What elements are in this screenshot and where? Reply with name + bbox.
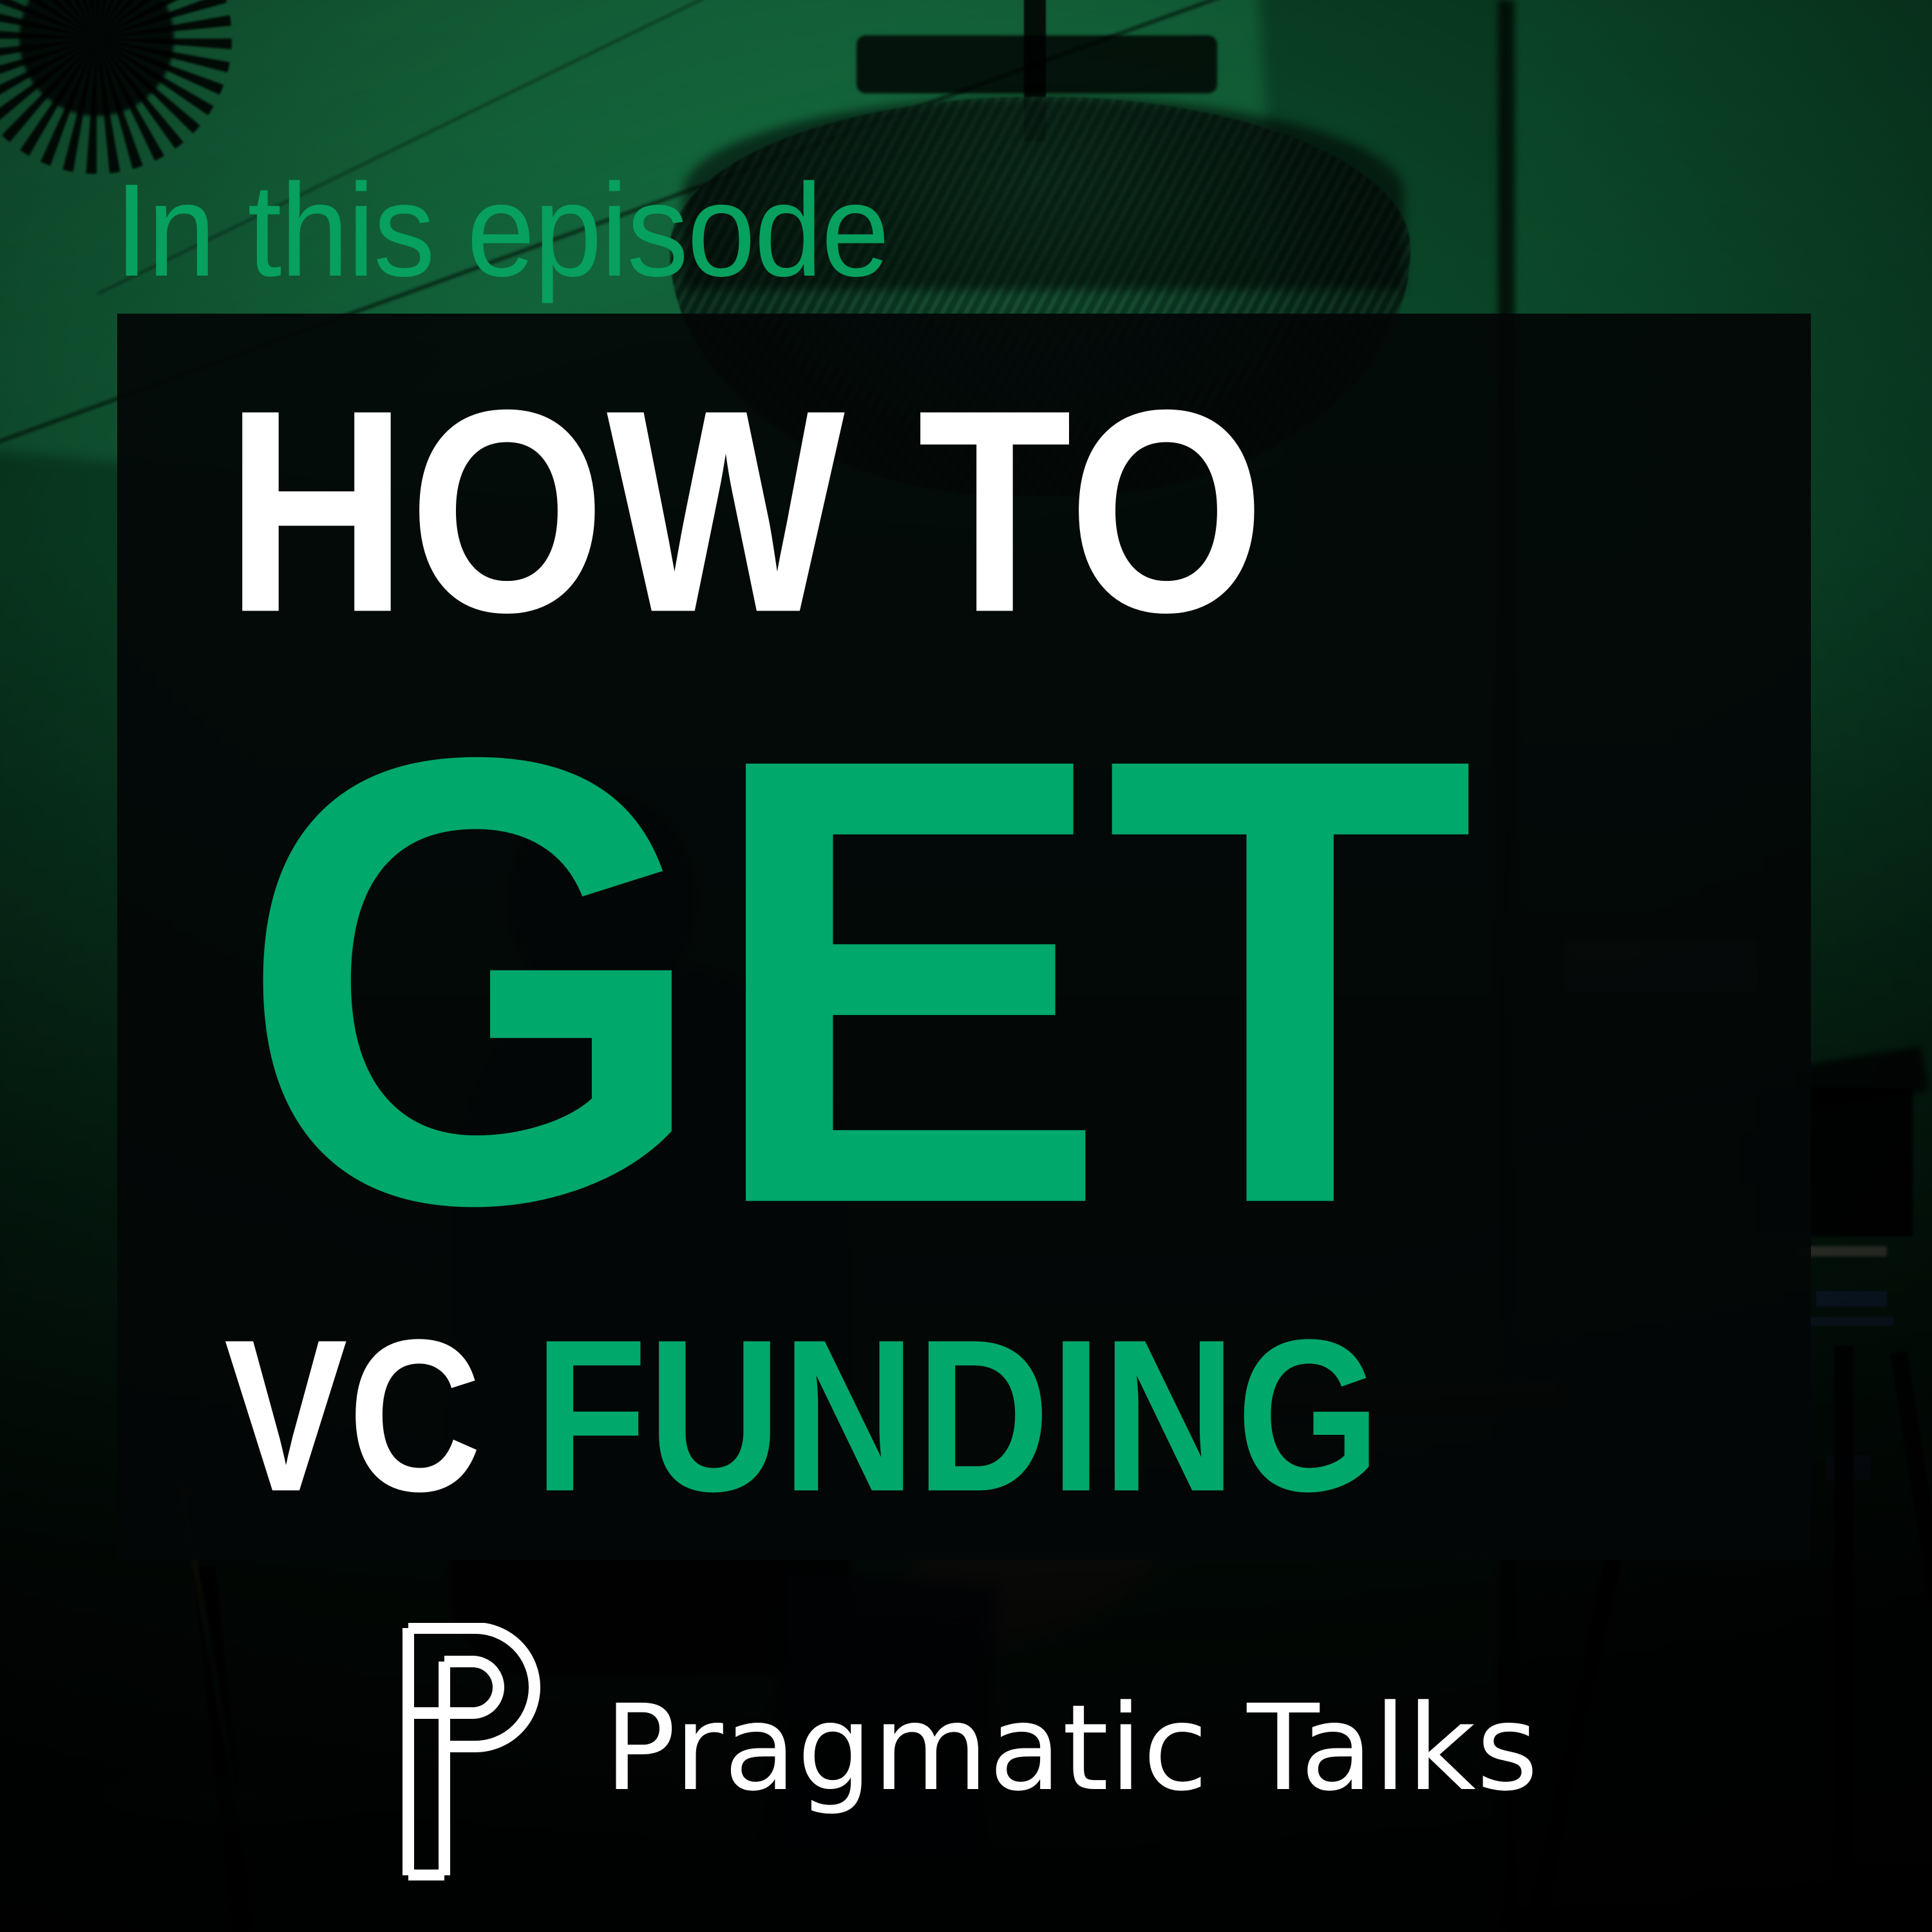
title-line-vc-funding: VC FUNDING	[224, 1307, 1381, 1524]
brand-name-label: Pragmatic Talks	[604, 1689, 1539, 1808]
title-line-how-to: HOW TO	[225, 367, 1266, 656]
podcast-episode-cover: In this episode HOW TO GET VC FUNDING Pr…	[0, 0, 1932, 1932]
episode-eyebrow-label: In this episode	[115, 164, 889, 296]
title-word-vc: VC	[224, 1294, 482, 1537]
pragmatic-talks-p-monogram-icon	[393, 1623, 567, 1884]
title-line-get: GET	[238, 663, 1471, 1299]
title-word-funding: FUNDING	[535, 1294, 1381, 1537]
brand-lockup: Pragmatic Talks	[0, 1623, 1932, 1884]
